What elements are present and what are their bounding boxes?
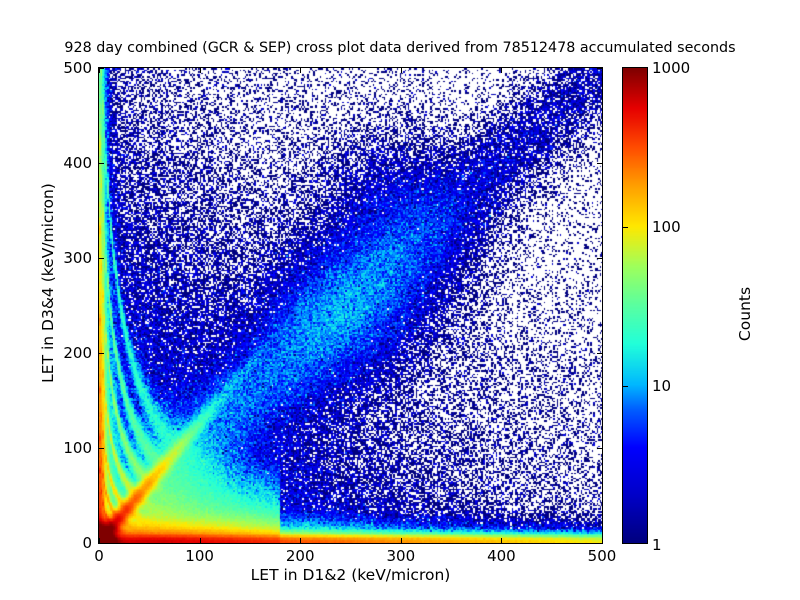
y-tick: [99, 448, 104, 449]
y-tick-label: 500: [63, 59, 92, 77]
colorbar: [622, 67, 648, 544]
x-tick-label: 400: [487, 547, 516, 565]
colorbar-tick-label: 100: [652, 218, 681, 236]
y-tick: [99, 543, 104, 544]
colorbar-tick-label: 10: [652, 377, 671, 395]
x-tick: [300, 538, 301, 543]
y-tick-right: [597, 543, 602, 544]
colorbar-label: Counts: [736, 184, 754, 444]
colorbar-tick: [623, 227, 628, 228]
x-tick: [501, 538, 502, 543]
y-tick-right: [597, 258, 602, 259]
y-tick-right: [597, 353, 602, 354]
x-tick-top: [602, 68, 603, 73]
chart-title-line-1: 928 day combined (GCR & SEP) cross plot …: [0, 40, 800, 57]
x-tick-label: 200: [286, 547, 315, 565]
x-tick-top: [300, 68, 301, 73]
y-tick: [99, 258, 104, 259]
x-tick-label: 100: [185, 547, 214, 565]
colorbar-tick-label: 1: [652, 536, 662, 554]
x-tick: [602, 538, 603, 543]
x-tick: [401, 538, 402, 543]
y-tick: [99, 68, 104, 69]
x-tick-top: [401, 68, 402, 73]
colorbar-tick-label: 1000: [652, 59, 690, 77]
x-tick-top: [501, 68, 502, 73]
x-tick-label: 0: [94, 547, 104, 565]
y-tick-right: [597, 68, 602, 69]
y-tick-label: 100: [63, 439, 92, 457]
density-heatmap: [99, 68, 602, 543]
x-tick: [200, 538, 201, 543]
y-tick-right: [597, 448, 602, 449]
colorbar-gradient: [623, 68, 647, 543]
x-tick-label: 300: [386, 547, 415, 565]
colorbar-tick: [623, 386, 628, 387]
y-tick: [99, 163, 104, 164]
y-tick-label: 0: [82, 534, 92, 552]
plot-area: [98, 67, 603, 544]
y-tick: [99, 353, 104, 354]
x-axis-label: LET in D1&2 (keV/micron): [98, 566, 603, 584]
y-tick-label: 200: [63, 344, 92, 362]
figure: 928 day combined (GCR & SEP) cross plot …: [0, 0, 800, 600]
y-tick-label: 300: [63, 249, 92, 267]
x-tick-label: 500: [588, 547, 617, 565]
y-axis-label: LET in D3&4 (keV/micron): [39, 83, 57, 483]
y-tick-label: 400: [63, 154, 92, 172]
x-tick-top: [200, 68, 201, 73]
y-tick-right: [597, 163, 602, 164]
